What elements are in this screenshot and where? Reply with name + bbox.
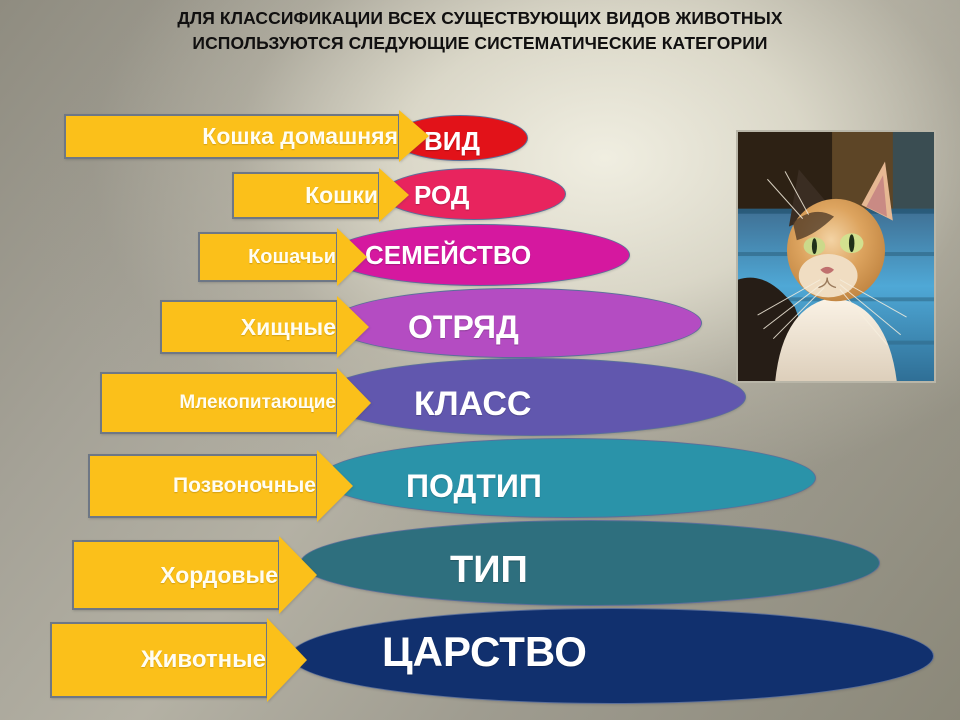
example-banner[interactable]: Кошки [232, 172, 380, 219]
rank-label: СЕМЕЙСТВО [365, 240, 531, 271]
example-banner[interactable]: Кошачьи [198, 232, 338, 282]
banner-arrow-icon [337, 368, 371, 438]
example-banner-label: Животные [141, 646, 266, 674]
example-banner-label: Позвоночные [173, 474, 316, 498]
rank-ellipse [382, 168, 566, 220]
rank-ellipse [318, 358, 746, 436]
rank-label: ЦАРСТВО [382, 628, 587, 676]
banner-arrow-icon [279, 536, 317, 614]
example-banner-label: Кошачьи [248, 246, 336, 269]
example-banner[interactable]: Кошка домашняя [64, 114, 400, 159]
rank-ellipse [300, 520, 880, 606]
slide-canvas: ДЛЯ КЛАССИФИКАЦИИ ВСЕХ СУЩЕСТВУЮЩИХ ВИДО… [0, 0, 960, 720]
banner-arrow-icon [379, 168, 409, 222]
banner-arrow-icon [399, 110, 429, 162]
example-banner[interactable]: Животные [50, 622, 268, 698]
banner-arrow-icon [337, 296, 369, 358]
rank-label: ПОДТИП [406, 468, 542, 505]
example-banner-label: Млекопитающие [179, 392, 336, 414]
slide-title: ДЛЯ КЛАССИФИКАЦИИ ВСЕХ СУЩЕСТВУЮЩИХ ВИДО… [0, 6, 960, 56]
cat-photo-illustration [738, 132, 934, 381]
example-banner[interactable]: Хордовые [72, 540, 280, 610]
rank-label: ВИД [424, 126, 480, 157]
rank-label: КЛАСС [414, 385, 531, 424]
example-banner-label: Хордовые [160, 562, 278, 589]
banner-arrow-icon [317, 450, 353, 522]
rank-ellipse [320, 438, 816, 518]
example-banner-label: Хищные [241, 314, 336, 341]
rank-label: РОД [414, 180, 469, 211]
example-banner-label: Кошки [305, 182, 378, 209]
example-banner[interactable]: Млекопитающие [100, 372, 338, 434]
banner-arrow-icon [267, 618, 307, 702]
rank-label: ОТРЯД [408, 309, 519, 346]
example-banner[interactable]: Позвоночные [88, 454, 318, 518]
cat-photo [736, 130, 936, 383]
example-banner[interactable]: Хищные [160, 300, 338, 354]
title-line-1: ДЛЯ КЛАССИФИКАЦИИ ВСЕХ СУЩЕСТВУЮЩИХ ВИДО… [0, 6, 960, 31]
title-line-2: ИСПОЛЬЗУЮТСЯ СЛЕДУЮЩИЕ СИСТЕМАТИЧЕСКИЕ К… [0, 31, 960, 56]
banner-arrow-icon [337, 228, 367, 286]
example-banner-label: Кошка домашняя [202, 123, 398, 150]
rank-label: ТИП [450, 549, 528, 592]
